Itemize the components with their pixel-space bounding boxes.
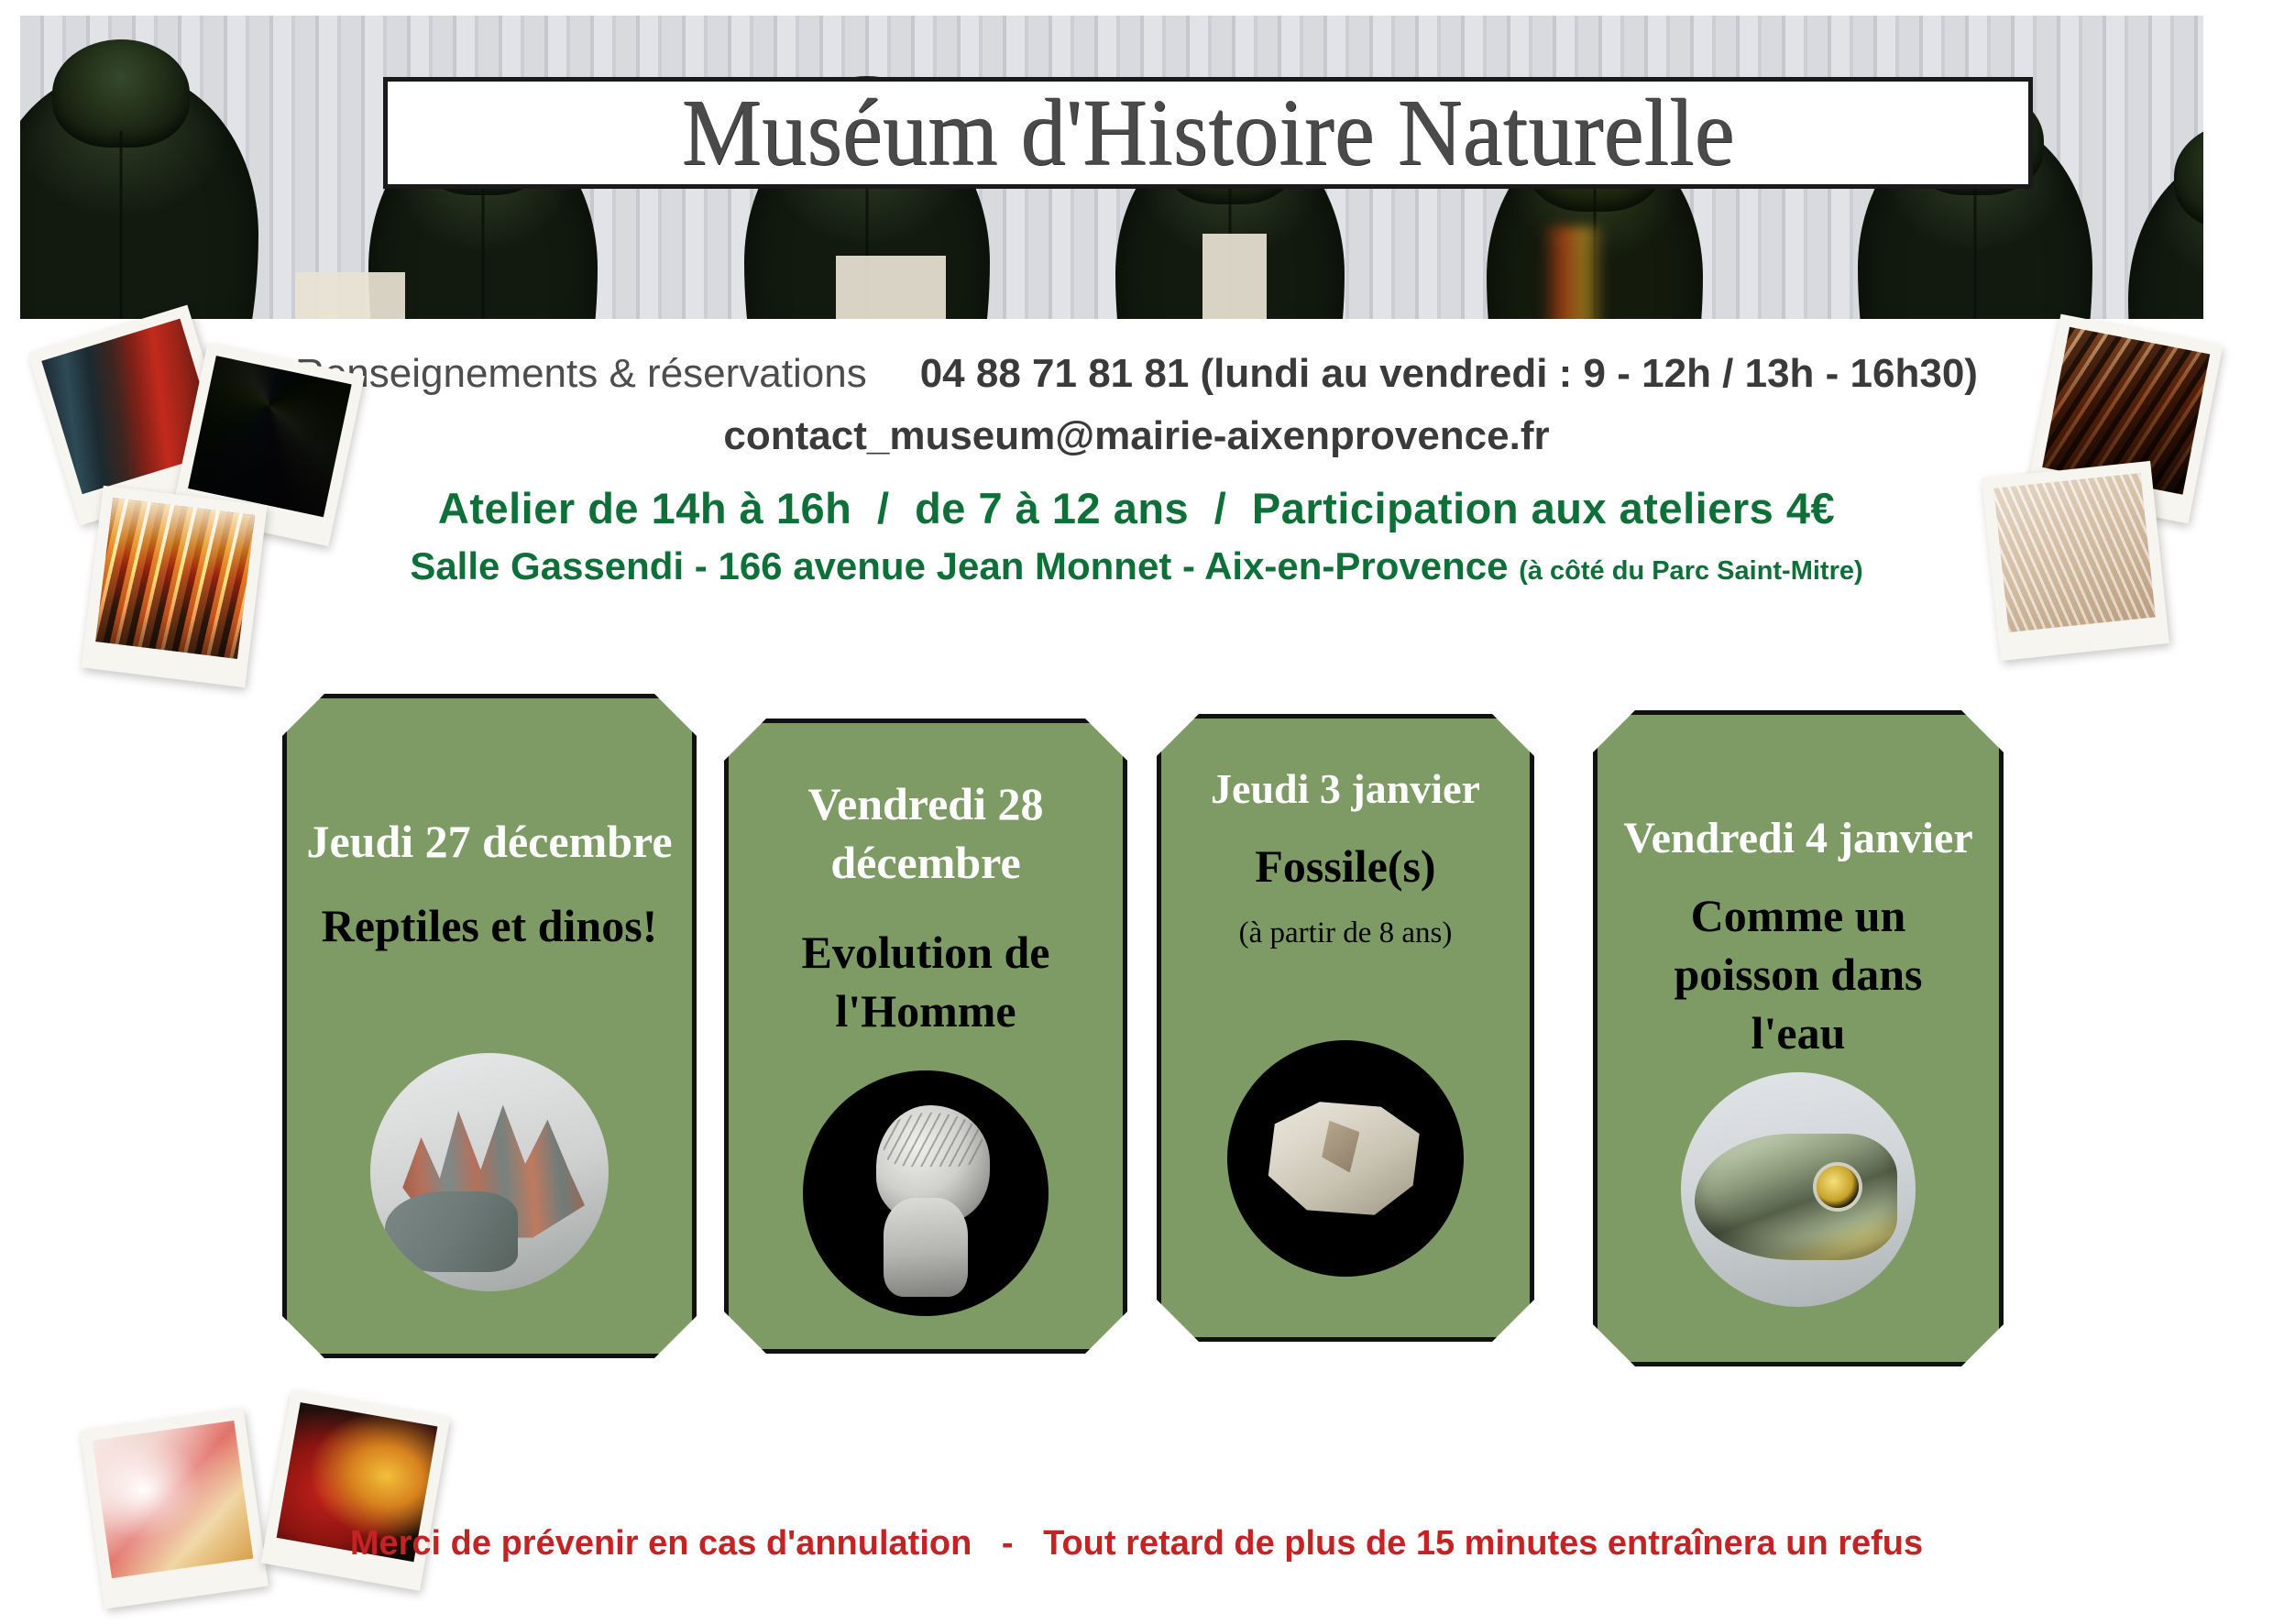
feather-photo-striped (95, 498, 255, 659)
fossil-rock-photo (1227, 1040, 1464, 1277)
fish-head-photo (1681, 1072, 1916, 1307)
workshop-time: Atelier de 14h à 16h (438, 484, 851, 532)
workshop-card[interactable]: Vendredi 28 décembre Evolution de l'Homm… (724, 719, 1127, 1354)
brain-texture (884, 1113, 982, 1167)
info-label: Renseignements & réservations (295, 351, 867, 397)
specimen-label-tag (1202, 234, 1267, 319)
beetle-highlight (1542, 226, 1606, 319)
footer-notice: Merci de prévenir en cas d'annulation - … (0, 1524, 2273, 1564)
workshop-card[interactable]: Jeudi 27 décembre Reptiles et dinos! (282, 694, 697, 1358)
title-box: Muséum d'Histoire Naturelle (383, 77, 2033, 189)
phone-number: 04 88 71 81 81 (lundi au vendredi : 9 - … (920, 351, 1978, 397)
card-date: Jeudi 3 janvier (1161, 763, 1530, 817)
venue-note: (à côté du Parc Saint-Mitre) (1519, 556, 1862, 586)
footer-part-one: Merci de prévenir en cas d'annulation (350, 1524, 972, 1563)
polaroid-photo (80, 1408, 269, 1608)
card-topic: Comme un poisson dans l'eau (1598, 886, 1999, 1062)
specimen-label-tag (295, 272, 405, 319)
footer-part-two: Tout retard de plus de 15 minutes entraî… (1043, 1524, 1923, 1563)
feather-photo-tan-plume (1993, 473, 2156, 632)
specimen-label-tag (836, 256, 946, 319)
card-date: Vendredi 28 décembre (729, 774, 1123, 892)
separator: / (864, 483, 903, 533)
workshop-card[interactable]: Vendredi 4 janvier Comme un poisson dans… (1593, 710, 2004, 1366)
workshop-card-list: Jeudi 27 décembre Reptiles et dinos! Ven… (0, 689, 2273, 1386)
workshop-card[interactable]: Jeudi 3 janvier Fossile(s) (à partir de … (1157, 714, 1534, 1342)
card-topic: Evolution de l'Homme (729, 923, 1123, 1040)
card-date: Vendredi 4 janvier (1598, 810, 1999, 866)
page-title: Muséum d'Histoire Naturelle (682, 85, 1735, 181)
stegosaurus-toy-photo (370, 1053, 609, 1291)
feather-photo-peacock (188, 356, 351, 517)
human-skull-brain-sculpture-photo (803, 1070, 1049, 1316)
separator: / (1202, 483, 1240, 533)
venue-address: Salle Gassendi - 166 avenue Jean Monnet … (410, 544, 1508, 587)
workshop-details-line: Atelier de 14h à 16h / de 7 à 12 ans / P… (0, 483, 2273, 533)
workshop-price: Participation aux ateliers 4€ (1252, 484, 1835, 532)
card-note: (à partir de 8 ans) (1161, 916, 1530, 952)
beetle-icon (20, 71, 258, 319)
polaroid-photo (81, 486, 267, 687)
poster-root: Muséum d'Histoire Naturelle Renseignemen… (0, 0, 2273, 1624)
beetle-icon (2128, 153, 2203, 319)
venue-line: Salle Gassendi - 166 avenue Jean Monnet … (0, 544, 2273, 588)
card-topic: Fossile(s) (1161, 837, 1530, 895)
footer-dash: - (982, 1524, 1034, 1563)
polaroid-photo (1982, 461, 2169, 661)
card-date: Jeudi 27 décembre (287, 812, 692, 871)
workshop-ages: de 7 à 12 ans (915, 484, 1189, 532)
card-topic: Reptiles et dinos! (287, 896, 692, 955)
